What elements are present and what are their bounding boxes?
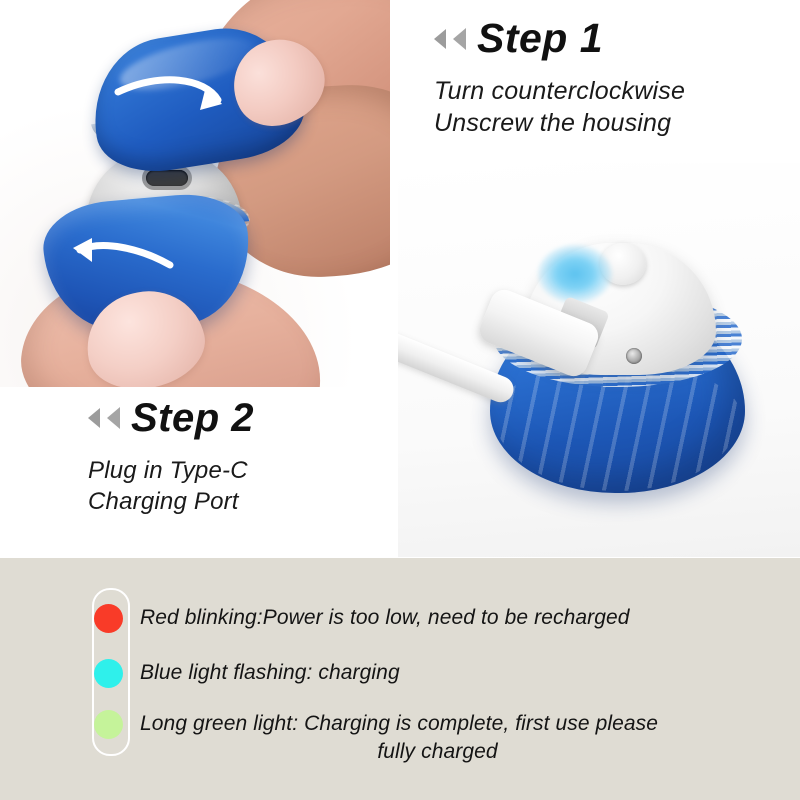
green-status-dot-icon [94, 710, 123, 739]
step-2-title: Step 2 [131, 398, 254, 438]
legend-item-red: Red blinking:Power is too low, need to b… [0, 604, 630, 633]
triangle-left-icon [88, 408, 100, 428]
step-1-title: Step 1 [477, 18, 603, 59]
cyan-status-dot-icon [94, 659, 123, 688]
step-1-block: Step 1 Turn counterclockwise Unscrew the… [434, 18, 784, 139]
step-2-block: Step 2 Plug in Type-C Charging Port [88, 398, 388, 517]
legend-item-blue-label: Blue light flashing: charging [140, 659, 400, 687]
legend-green-line2: fully charged [140, 738, 735, 766]
triangle-left-icon [434, 29, 446, 49]
photo-unscrew-ball [0, 0, 390, 387]
step-2-description: Plug in Type-C Charging Port [88, 456, 388, 517]
triangle-left-icon [453, 28, 466, 50]
step-2-title-row: Step 2 [88, 398, 388, 438]
legend-item-blue: Blue light flashing: charging [0, 659, 400, 688]
triangle-left-icon [107, 407, 120, 429]
legend-item-green-label: Long green light: Charging is complete, … [140, 710, 735, 765]
dome-screw [626, 348, 642, 364]
rotation-arrows [0, 0, 390, 387]
photo-charging-ball [398, 163, 800, 557]
blue-led-glow-icon [538, 245, 612, 303]
led-status-legend: Red blinking:Power is too low, need to b… [0, 558, 800, 800]
step-1-title-row: Step 1 [434, 18, 784, 59]
product-instruction-page: Step 1 Turn counterclockwise Unscrew the… [0, 0, 800, 800]
red-status-dot-icon [94, 604, 123, 633]
legend-item-red-label: Red blinking:Power is too low, need to b… [140, 604, 630, 632]
step-1-description: Turn counterclockwise Unscrew the housin… [434, 75, 784, 139]
legend-item-green: Long green light: Charging is complete, … [0, 710, 735, 765]
legend-green-line1: Long green light: Charging is complete, … [140, 712, 658, 735]
